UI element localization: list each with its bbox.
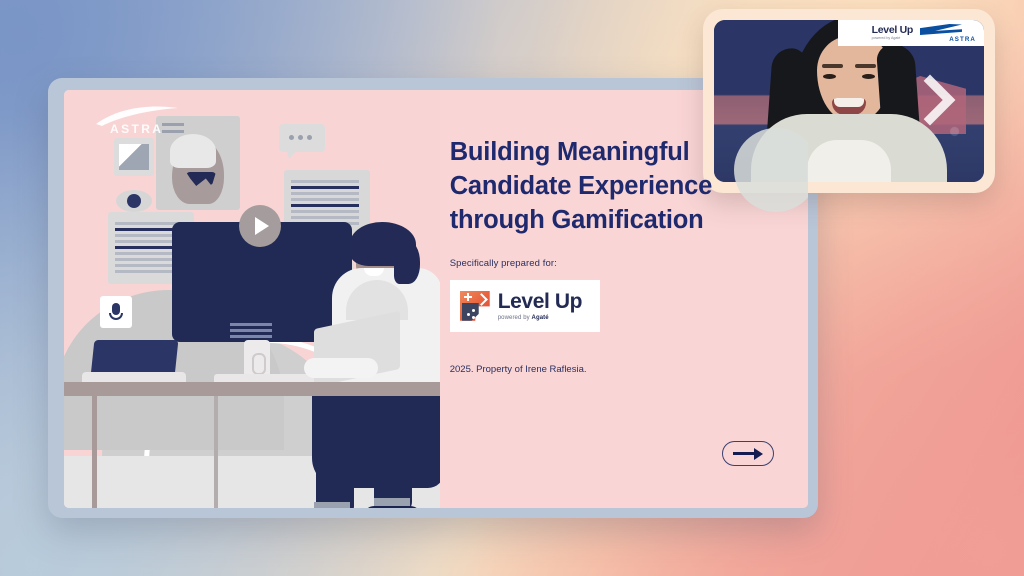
- workspace-illustration: [64, 90, 440, 508]
- virtual-background-logo-bar: Level Up powered by Agaté ASTRA: [838, 20, 984, 46]
- floating-card-eye: [116, 190, 152, 212]
- presenter-eyes: [823, 74, 875, 79]
- person-sock-left: [314, 502, 350, 508]
- next-slide-button[interactable]: [722, 441, 774, 466]
- presenter-shirt: [807, 140, 891, 182]
- level-up-icon-dots: [467, 313, 470, 316]
- floating-card-microphone: [100, 296, 132, 328]
- prepared-for-label: Specifically prepared for:: [450, 258, 778, 269]
- person-eye: [367, 256, 372, 261]
- presentation-slide-window[interactable]: ASTRA: [48, 78, 818, 518]
- illustration-chair-leg: [214, 396, 218, 508]
- eye-pupil-icon: [127, 194, 141, 208]
- chat-dots-icon: [289, 135, 294, 140]
- level-up-icon: [460, 291, 490, 321]
- arrow-right-icon-head: [754, 448, 763, 460]
- astra-logo-text: ASTRA: [110, 122, 163, 136]
- client-logo-name: Level Up: [498, 291, 582, 312]
- astra-swoosh-icon: [920, 24, 962, 35]
- presenter-teeth: [834, 98, 864, 107]
- vb-level-up-name: Level Up: [872, 25, 913, 36]
- virtual-background-astra-logo: ASTRA: [920, 23, 976, 43]
- astra-logo: ASTRA: [92, 102, 202, 142]
- client-logo-tagline: powered by Agaté: [498, 315, 582, 321]
- client-tagline-brand: Agaté: [532, 315, 549, 321]
- person-hair-side: [394, 240, 420, 284]
- floating-card-image: [114, 138, 154, 176]
- slide-canvas: ASTRA: [64, 90, 808, 508]
- play-button-icon: [239, 205, 281, 247]
- level-up-icon-plus: [464, 296, 472, 298]
- illustration-desk: [64, 382, 440, 396]
- virtual-background-level-up-logo: Level Up powered by Agaté: [872, 25, 913, 41]
- document-lines: [291, 180, 359, 183]
- vb-astra-text: ASTRA: [949, 36, 976, 43]
- presenter-mouth: [832, 98, 866, 115]
- client-logo-card: Level Up powered by Agaté: [450, 280, 600, 332]
- presenter-eyebrows: [822, 64, 876, 68]
- slide-title: Building Meaningful Candidate Experience…: [450, 136, 750, 238]
- arrow-right-icon-shaft: [733, 452, 755, 455]
- person-shoe-right: [364, 506, 422, 508]
- person-shin-left: [316, 450, 354, 508]
- client-tagline-prefix: powered by: [498, 315, 532, 321]
- slide-copyright: 2025. Property of Irene Raflesia.: [450, 364, 778, 375]
- client-logo-text: Level Up powered by Agaté: [498, 291, 582, 321]
- microphone-stand-icon: [109, 313, 123, 320]
- slide-text-pane: Building Meaningful Candidate Experience…: [440, 90, 808, 508]
- vb-level-up-tagline: powered by Agaté: [872, 37, 913, 41]
- person-arm: [304, 358, 378, 378]
- monitor-screen-lines: [230, 323, 272, 326]
- floating-card-chat: [279, 124, 325, 152]
- slide-illustration-pane: ASTRA: [64, 90, 440, 508]
- illustration-desk-leg: [92, 396, 97, 508]
- level-up-icon-square-dark: [462, 303, 479, 321]
